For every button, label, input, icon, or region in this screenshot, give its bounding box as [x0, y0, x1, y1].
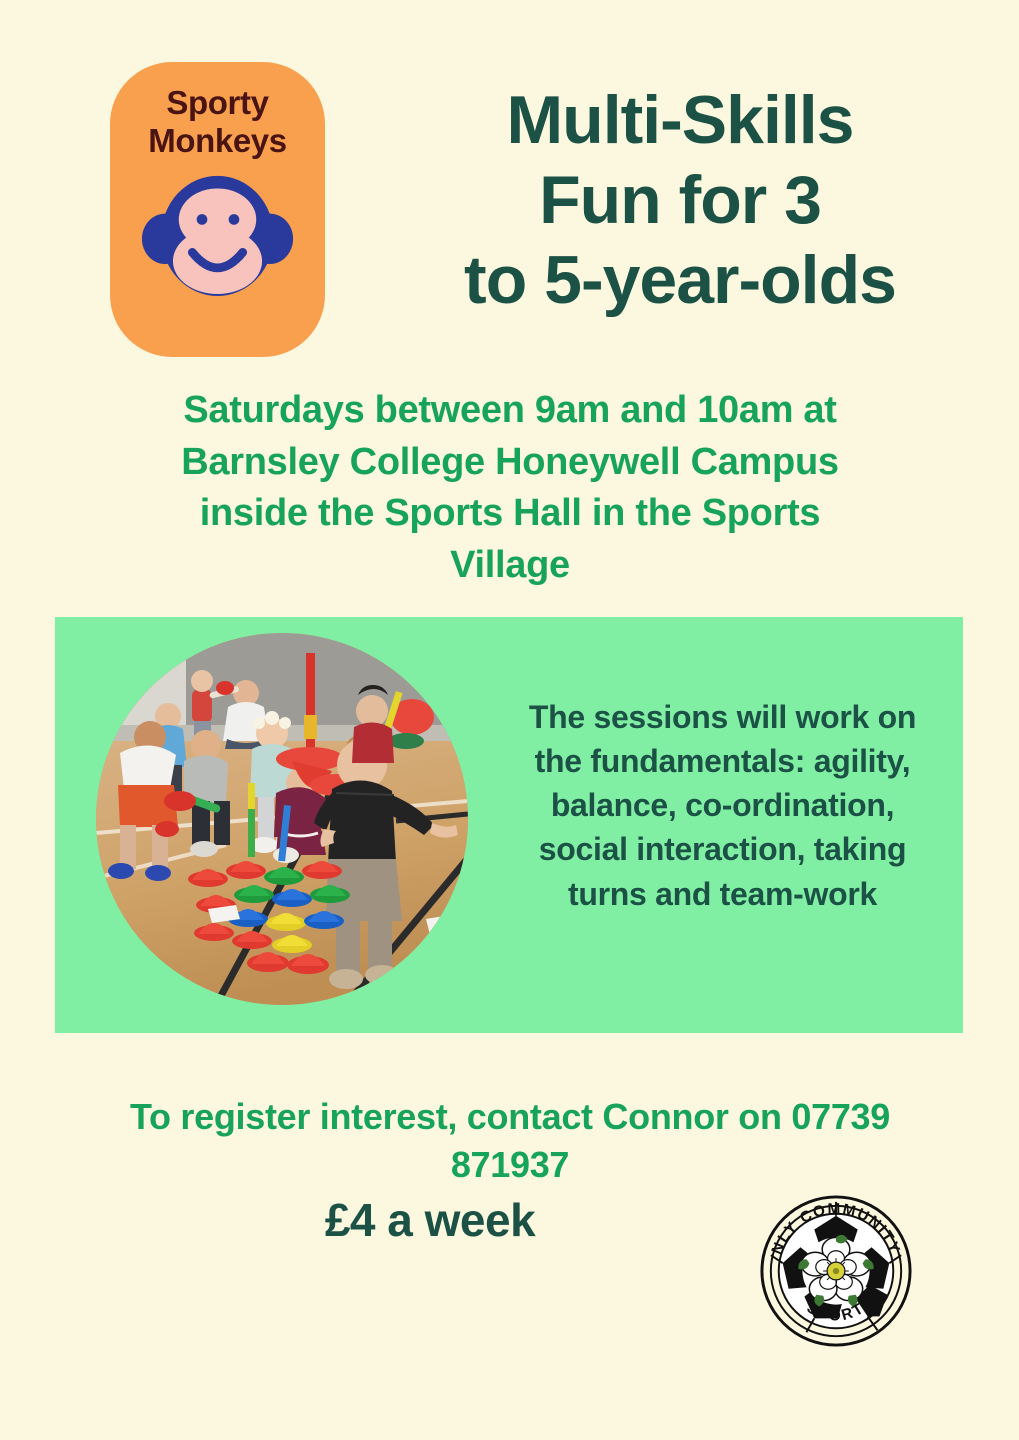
session-details-line-2: Barnsley College Honeywell Campus: [60, 437, 960, 489]
poster-title-line-1: Multi-Skills: [360, 80, 1000, 160]
price-label: £4 a week: [190, 1193, 670, 1247]
session-details-line-1: Saturdays between 9am and 10am at: [60, 385, 960, 437]
contact-line-2: 871937: [70, 1141, 950, 1189]
panel-body-line-4: social interaction, taking: [495, 827, 950, 871]
session-details-line-4: Village: [60, 540, 960, 592]
partner-logo: NLY COMMUNITY SPORT: [757, 1192, 915, 1350]
brand-name: Sporty Monkeys: [148, 84, 286, 159]
monkey-face-icon: [140, 171, 295, 306]
contact-info: To register interest, contact Connor on …: [70, 1093, 950, 1189]
panel-body-line-5: turns and team-work: [495, 872, 950, 916]
poster-title-line-2: Fun for 3: [360, 160, 1000, 240]
session-details: Saturdays between 9am and 10am at Barnsl…: [60, 385, 960, 592]
poster-title: Multi-Skills Fun for 3 to 5-year-olds: [360, 80, 1000, 321]
brand-name-line-2: Monkeys: [148, 122, 286, 160]
session-photo: [96, 633, 468, 1005]
panel-body-text: The sessions will work on the fundamenta…: [495, 695, 950, 916]
brand-badge: Sporty Monkeys: [110, 62, 325, 357]
info-panel: The sessions will work on the fundamenta…: [55, 617, 963, 1033]
brand-name-line-1: Sporty: [148, 84, 286, 122]
contact-line-1: To register interest, contact Connor on …: [70, 1093, 950, 1141]
poster-title-line-3: to 5-year-olds: [360, 240, 1000, 320]
panel-body-line-2: the fundamentals: agility,: [495, 739, 950, 783]
session-details-line-3: inside the Sports Hall in the Sports: [60, 488, 960, 540]
poster-canvas: Sporty Monkeys Multi-Skil: [0, 0, 1019, 1440]
panel-body-line-3: balance, co-ordination,: [495, 783, 950, 827]
panel-body-line-1: The sessions will work on: [495, 695, 950, 739]
